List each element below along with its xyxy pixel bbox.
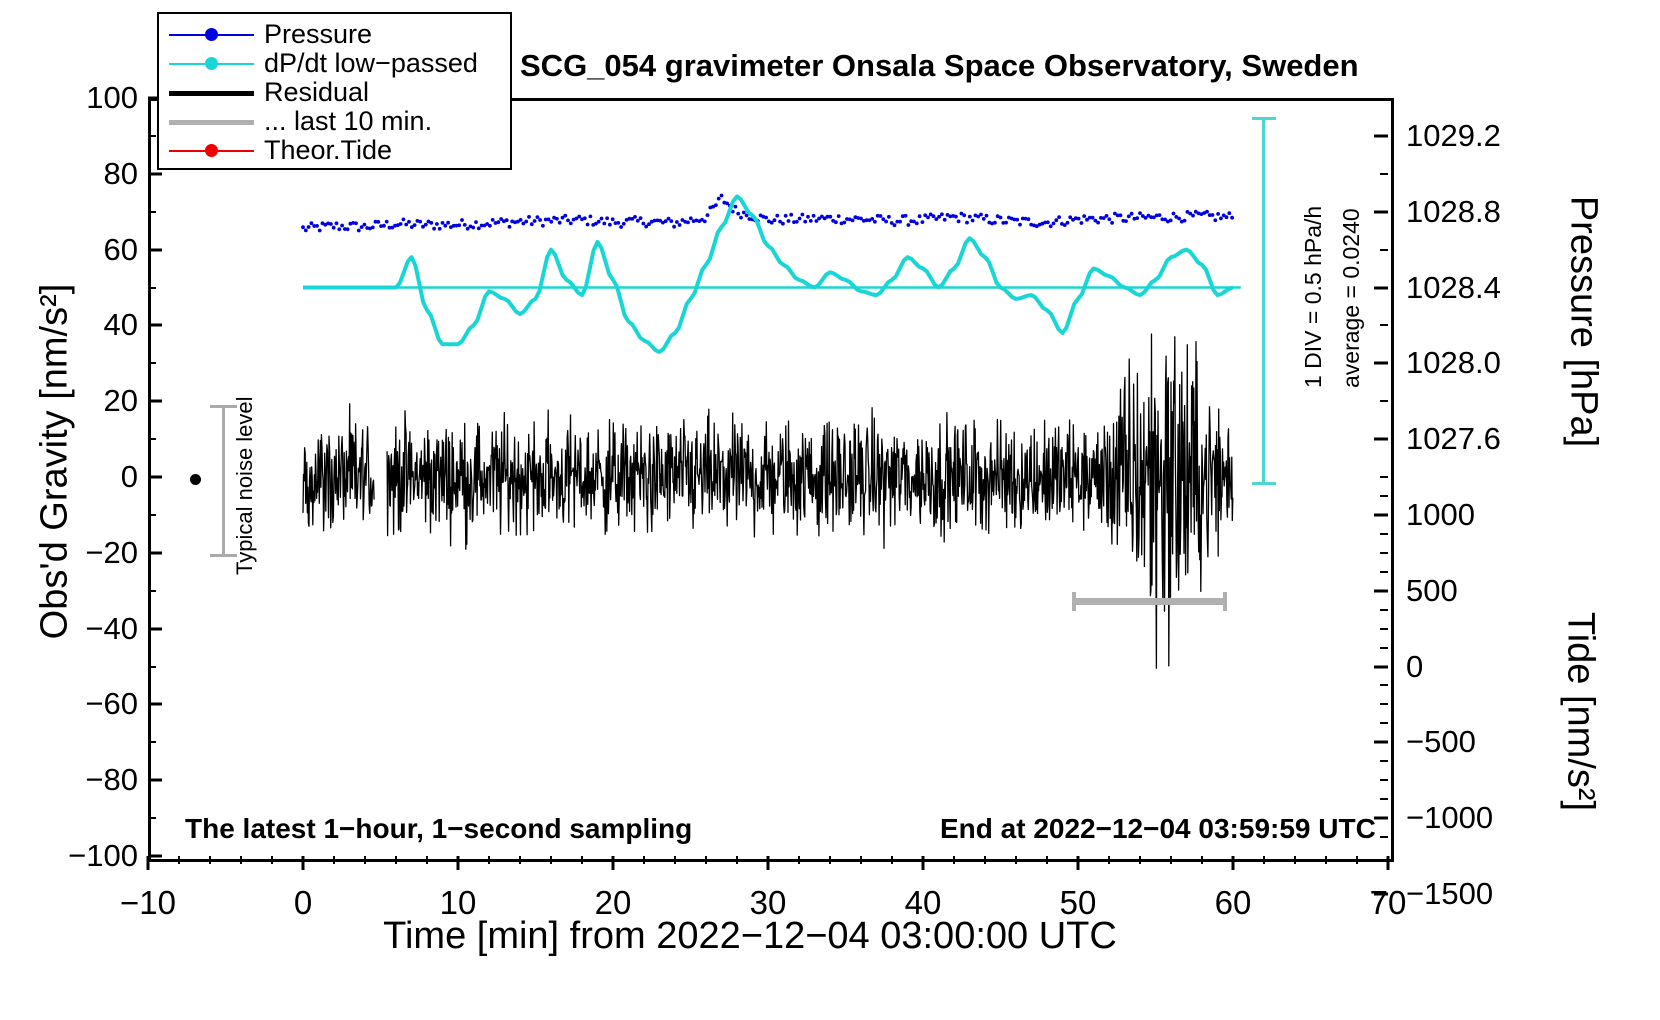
dpdt-division-label: 1 DIV = 0.5 hPa/h [1300, 206, 1327, 388]
pressure-point [1177, 217, 1181, 221]
pressure-point [1046, 220, 1050, 224]
pressure-point [438, 227, 442, 231]
pressure-point [915, 222, 919, 226]
x-tick-minor [829, 856, 831, 864]
x-tick [1232, 856, 1235, 870]
x-tick-label: 40 [905, 884, 942, 922]
legend-swatch-icon [169, 54, 254, 74]
pressure-point [1227, 211, 1231, 215]
pressure-point [714, 203, 718, 207]
pressure-point [337, 227, 341, 231]
pressure-point [435, 222, 439, 226]
pressure-point [530, 222, 534, 226]
x-tick-label: 50 [1060, 884, 1097, 922]
pressure-point [921, 220, 925, 224]
pressure-point [533, 219, 537, 223]
x-tick-minor [364, 856, 366, 864]
end-time-note: End at 2022−12−04 03:59:59 UTC [940, 813, 1376, 845]
pressure-point [496, 220, 500, 224]
pressure-point [971, 219, 975, 223]
pressure-point [441, 221, 445, 225]
legend-label: Residual [254, 77, 369, 108]
pressure-point [806, 215, 810, 219]
pressure-point [404, 223, 408, 227]
pressure-point [932, 214, 936, 218]
pressure-point [463, 223, 467, 227]
x-tick-minor [1325, 856, 1327, 864]
pressure-point [781, 222, 785, 226]
x-tick [767, 856, 770, 870]
pressure-point [720, 194, 724, 198]
pressure-point [1018, 223, 1022, 227]
pressure-point [686, 221, 690, 225]
pressure-point [801, 213, 805, 217]
x-tick [922, 856, 925, 870]
data-curves [148, 98, 1388, 856]
legend-swatch-icon [169, 112, 254, 132]
pressure-point [318, 229, 322, 233]
y-tick-label-pressure: 1028.0 [1406, 345, 1501, 381]
pressure-point [1119, 213, 1123, 217]
x-tick [1387, 856, 1390, 870]
pressure-point [812, 214, 816, 218]
pressure-point [563, 214, 567, 218]
x-tick-minor [736, 856, 738, 864]
pressure-point [1107, 217, 1111, 221]
pressure-point [399, 222, 403, 226]
pressure-point [332, 226, 336, 230]
x-tick-label: 70 [1370, 884, 1407, 922]
pressure-point [524, 220, 528, 224]
pressure-point [619, 225, 623, 229]
pressure-point [385, 220, 389, 224]
x-tick-minor [674, 856, 676, 864]
pressure-point [616, 221, 620, 225]
x-tick-minor [891, 856, 893, 864]
pressure-point [979, 213, 983, 217]
y-tick-label-left: 60 [18, 232, 138, 268]
pressure-point [1066, 221, 1070, 225]
y-tick-label-left: 80 [18, 156, 138, 192]
pressure-point [600, 217, 604, 221]
pressure-point [315, 224, 319, 228]
pressure-point [887, 215, 891, 219]
y-tick-label-tide: −1500 [1406, 876, 1493, 912]
pressure-point [586, 223, 590, 227]
pressure-point [678, 223, 682, 227]
x-tick-minor [1170, 856, 1172, 864]
x-tick-minor [426, 856, 428, 864]
pressure-point [789, 213, 793, 217]
pressure-point [809, 219, 813, 223]
legend-swatch-icon [169, 141, 254, 161]
noise-bar [222, 405, 225, 557]
pressure-point [773, 218, 777, 222]
pressure-point [962, 213, 966, 217]
pressure-point [926, 216, 930, 220]
pressure-point [566, 219, 570, 223]
x-tick-minor [581, 856, 583, 864]
x-tick-minor [209, 856, 211, 864]
pressure-point [569, 222, 573, 226]
pressure-point [1015, 218, 1019, 222]
pressure-point [488, 224, 492, 228]
pressure-point [982, 217, 986, 221]
pressure-point [1052, 222, 1056, 226]
pressure-point [460, 218, 464, 222]
pressure-point [1127, 215, 1131, 219]
pressure-point [898, 220, 902, 224]
pressure-point [354, 221, 358, 225]
page-title: SCG_054 gravimeter Onsala Space Observat… [520, 48, 1359, 84]
x-tick-minor [333, 856, 335, 864]
x-tick-label: 20 [595, 884, 632, 922]
pressure-point [943, 218, 947, 222]
x-tick-minor [1139, 856, 1141, 864]
pressure-point [842, 221, 846, 225]
pressure-point [642, 222, 646, 226]
pressure-point [1219, 217, 1223, 221]
y-tick-label-left: −80 [18, 762, 138, 798]
pressure-point [675, 220, 679, 224]
pressure-point [555, 217, 559, 221]
pressure-point [471, 226, 475, 230]
pressure-point [803, 220, 807, 224]
pressure-point [764, 216, 768, 220]
pressure-point [734, 205, 738, 209]
pressure-point [310, 221, 314, 225]
pressure-point [1077, 217, 1081, 221]
y-tick-label-left: 40 [18, 307, 138, 343]
pressure-point [717, 197, 721, 201]
y-tick-label-pressure: 1028.4 [1406, 270, 1501, 306]
x-tick-label: 0 [294, 884, 312, 922]
y-tick-label-tide: 500 [1406, 573, 1458, 609]
legend-item[interactable]: Theor.Tide [159, 136, 510, 165]
x-tick-minor [1263, 856, 1265, 864]
pressure-point [424, 223, 428, 227]
x-tick-minor [1046, 856, 1048, 864]
pressure-point [1110, 221, 1114, 225]
pressure-point [1057, 215, 1061, 219]
pressure-point [1191, 214, 1195, 218]
pressure-point [558, 221, 562, 225]
pressure-point [1216, 212, 1220, 216]
pressure-point [968, 215, 972, 219]
pressure-point [918, 214, 922, 218]
pressure-point [1213, 218, 1217, 222]
pressure-point [633, 215, 637, 219]
pressure-point [549, 220, 553, 224]
x-tick-minor [984, 856, 986, 864]
pressure-point [407, 220, 411, 224]
y-tick-label-tide: 0 [1406, 649, 1423, 685]
sampling-note: The latest 1−hour, 1−second sampling [185, 813, 692, 845]
x-tick-minor [953, 856, 955, 864]
pressure-point [577, 215, 581, 219]
x-tick [612, 856, 615, 870]
pressure-point [1080, 221, 1084, 225]
last10-bar [1072, 598, 1227, 605]
pressure-point [307, 225, 311, 229]
pressure-point [457, 223, 461, 227]
pressure-point [1169, 219, 1173, 223]
pressure-point [1124, 219, 1128, 223]
pressure-point [1096, 221, 1100, 225]
pressure-point [1211, 213, 1215, 217]
pressure-point [873, 220, 877, 224]
x-tick-minor [1356, 856, 1358, 864]
pressure-point [1004, 221, 1008, 225]
x-tick-minor [860, 856, 862, 864]
pressure-point [429, 221, 433, 225]
legend-label: Theor.Tide [254, 135, 392, 166]
y-tick-label-left: 0 [18, 459, 138, 495]
y-tick-label-tide: 1000 [1406, 497, 1475, 533]
pressure-point [301, 225, 305, 229]
pressure-point [474, 220, 478, 224]
pressure-point [954, 215, 958, 219]
pressure-point [508, 225, 512, 229]
pressure-point [477, 227, 481, 231]
pressure-point [703, 220, 707, 224]
pressure-point [1082, 214, 1086, 218]
pressure-point [1091, 216, 1095, 220]
pressure-point [446, 221, 450, 225]
pressure-point [519, 218, 523, 222]
pressure-point [798, 217, 802, 221]
pressure-point [1158, 213, 1162, 217]
pressure-point [443, 224, 447, 228]
x-tick-minor [488, 856, 490, 864]
pressure-point [775, 214, 779, 218]
legend-label: Pressure [254, 19, 372, 50]
x-tick-minor [178, 856, 180, 864]
y-tick-right-tide [1374, 892, 1388, 895]
pressure-point [1225, 215, 1229, 219]
pressure-point [335, 221, 339, 225]
pressure-point [622, 222, 626, 226]
pressure-point [382, 224, 386, 228]
x-tick-label: 30 [750, 884, 787, 922]
dpdt-scale-bar [1262, 117, 1265, 485]
pressure-point [742, 211, 746, 215]
residual-segment [303, 404, 374, 531]
x-tick-minor [1201, 856, 1203, 864]
pressure-point [907, 223, 911, 227]
legend: PressuredP/dt low−passedResidual... last… [157, 12, 512, 170]
pressure-point [541, 224, 545, 228]
pressure-point [329, 222, 333, 226]
x-tick [1077, 856, 1080, 870]
dpdt-scale-bottom-cap [1252, 482, 1276, 485]
pressure-point [706, 213, 710, 217]
x-tick-minor [550, 856, 552, 864]
x-tick-minor [705, 856, 707, 864]
pressure-point [985, 214, 989, 218]
x-tick-minor [643, 856, 645, 864]
pressure-point [491, 218, 495, 222]
legend-label: dP/dt low−passed [254, 48, 478, 79]
x-tick-minor [271, 856, 273, 864]
pressure-point [363, 223, 367, 227]
pressure-point [602, 222, 606, 226]
pressure-point [957, 220, 961, 224]
pressure-point [371, 226, 375, 230]
pressure-point [605, 216, 609, 220]
y-tick-label-left: −40 [18, 611, 138, 647]
x-tick [302, 856, 305, 870]
pressure-point [340, 224, 344, 228]
legend-item[interactable]: Residual [159, 78, 510, 107]
x-tick-minor [798, 856, 800, 864]
pressure-point [1049, 224, 1053, 228]
pressure-point [669, 219, 673, 223]
pressure-point [672, 225, 676, 229]
legend-swatch-icon [169, 25, 254, 45]
x-tick-label: −10 [120, 884, 176, 922]
noise-level-label: Typical noise level [232, 396, 258, 575]
pressure-point [837, 214, 841, 218]
pressure-point [784, 214, 788, 218]
pressure-point [608, 223, 612, 227]
y-tick-label-left: 100 [18, 80, 138, 116]
pressure-point [999, 216, 1003, 220]
pressure-point [1130, 212, 1134, 216]
pressure-point [1138, 211, 1142, 215]
pressure-point [739, 216, 743, 220]
pressure-point [1105, 214, 1109, 218]
pressure-point [1172, 212, 1176, 216]
pressure-point [993, 221, 997, 225]
pressure-point [736, 212, 740, 216]
x-tick-label: 60 [1215, 884, 1252, 922]
x-tick-minor [240, 856, 242, 864]
x-tick [457, 856, 460, 870]
pressure-point [505, 218, 509, 222]
pressure-point [376, 220, 380, 224]
y-tick-label-left: 20 [18, 383, 138, 419]
pressure-point [304, 229, 308, 233]
pressure-point [597, 220, 601, 224]
x-tick [147, 856, 150, 870]
pressure-point [527, 215, 531, 219]
y-tick-label-pressure: 1027.6 [1406, 421, 1501, 457]
pressure-point [1205, 210, 1209, 214]
legend-item[interactable]: ... last 10 min. [159, 107, 510, 136]
legend-item[interactable]: Pressure [159, 20, 510, 49]
y-tick-label-left: −20 [18, 535, 138, 571]
x-tick-minor [1108, 856, 1110, 864]
pressure-point [834, 220, 838, 224]
pressure-point [536, 215, 540, 219]
pressure-point [583, 216, 587, 220]
pressure-point [893, 223, 897, 227]
y-axis-title-pressure: Pressure [hPa] [1562, 157, 1605, 487]
x-tick-minor [1294, 856, 1296, 864]
pressure-point [538, 218, 542, 222]
y-tick-label-tide: −1000 [1406, 800, 1493, 836]
pressure-point [904, 214, 908, 218]
y-tick-label-pressure: 1029.2 [1406, 118, 1501, 154]
pressure-point [828, 215, 832, 219]
x-tick-minor [519, 856, 521, 864]
y-tick-label-tide: −500 [1406, 724, 1476, 760]
pressure-point [879, 214, 883, 218]
residual-segment [387, 334, 1233, 668]
x-tick-minor [1015, 856, 1017, 864]
legend-item[interactable]: dP/dt low−passed [159, 49, 510, 78]
pressure-point [689, 216, 693, 220]
pressure-point [432, 227, 436, 231]
pressure-point [402, 218, 406, 222]
pressure-point [1135, 216, 1139, 220]
dpdt-average-label: average = 0.0240 [1338, 208, 1365, 388]
pressure-point [418, 220, 422, 224]
pressure-point [965, 221, 969, 225]
pressure-point [787, 219, 791, 223]
legend-label: ... last 10 min. [254, 106, 432, 137]
pressure-point [851, 219, 855, 223]
pressure-point [589, 215, 593, 219]
pressure-point [611, 217, 615, 221]
pressure-point [870, 217, 874, 221]
last10-bar-right-cap [1223, 592, 1227, 611]
x-tick-minor [395, 856, 397, 864]
pressure-point [940, 212, 944, 216]
pressure-point [413, 223, 417, 227]
y-tick-label-pressure: 1028.8 [1406, 194, 1501, 230]
pressure-point [795, 220, 799, 224]
legend-swatch-icon [169, 83, 254, 103]
pressure-point [639, 216, 643, 220]
pressure-point [1183, 219, 1187, 223]
pressure-point [1054, 218, 1058, 222]
pressure-point [1230, 216, 1234, 220]
pressure-point [884, 220, 888, 224]
noise-center-dot [190, 474, 201, 485]
pressure-point [1027, 217, 1031, 221]
y-tick-label-left: −100 [18, 838, 138, 874]
y-tick-label-left: −60 [18, 686, 138, 722]
y-axis-title-tide: Tide [nm/s²] [1559, 562, 1602, 862]
pressure-point [636, 219, 640, 223]
pressure-point [357, 229, 361, 233]
x-tick-label: 10 [440, 884, 477, 922]
pressure-point [346, 227, 350, 231]
